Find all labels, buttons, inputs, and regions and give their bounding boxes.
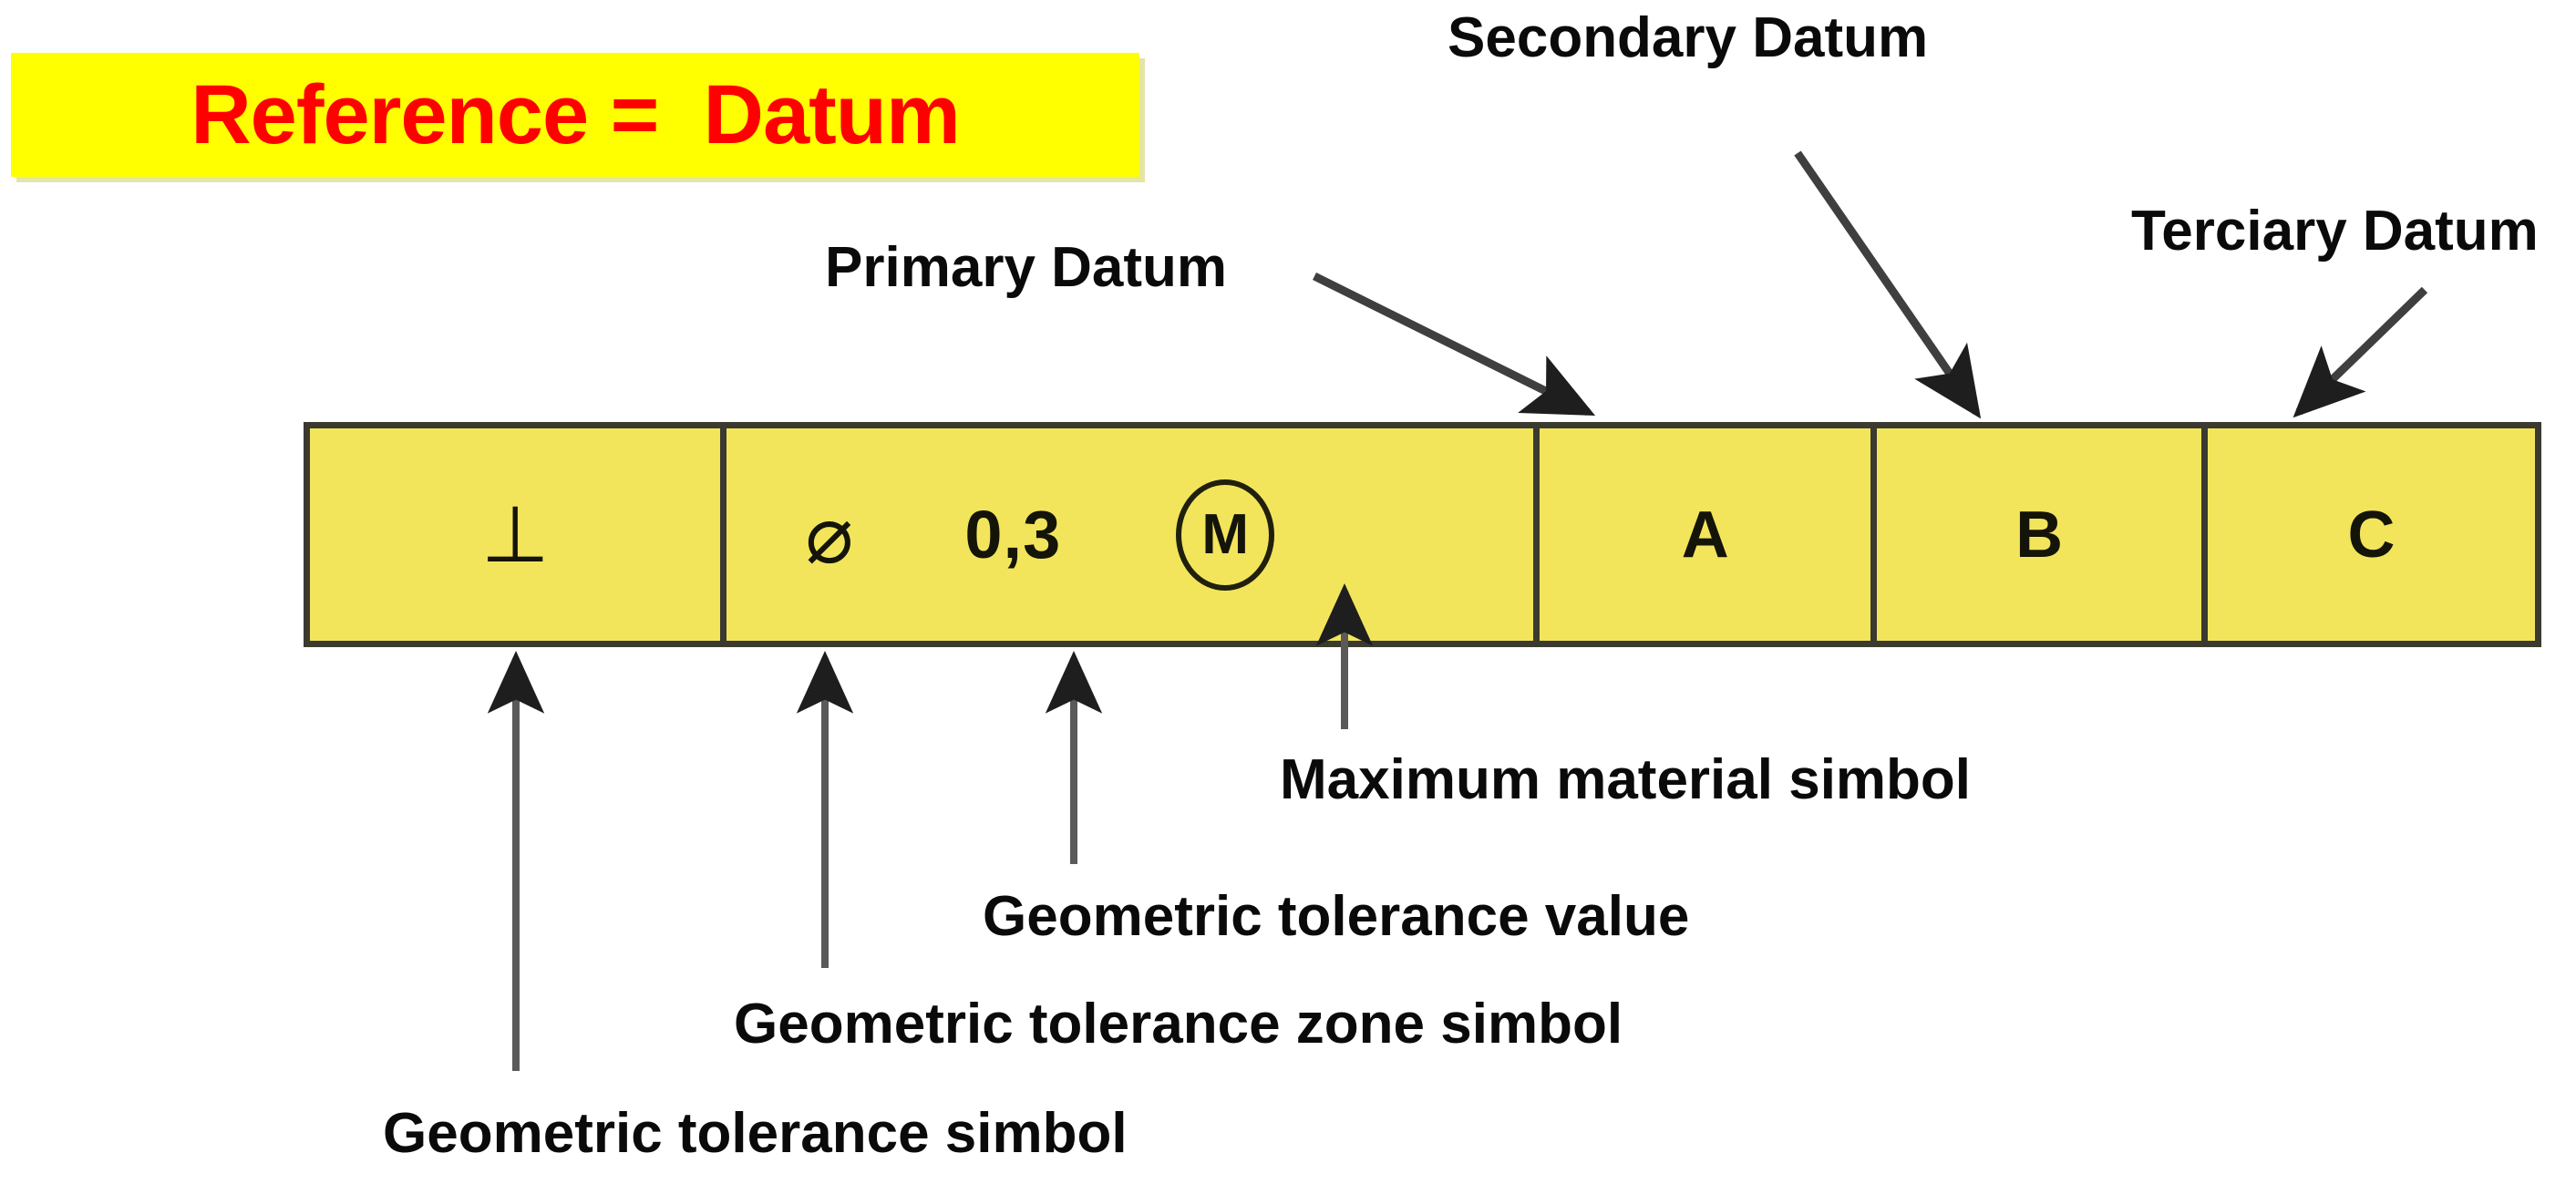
maximum-material-condition-icon: M [1176,479,1274,591]
fcf-cell-datum-b: B [1870,428,2201,641]
callout-secondary-datum: Secondary Datum [1448,5,1928,70]
callout-primary-datum: Primary Datum [825,235,1227,300]
callout-geometric-tolerance-simbol: Geometric tolerance simbol [383,1101,1128,1166]
fcf-cell-datum-a: A [1533,428,1870,641]
tolerance-value-text: 0,3 [964,496,1061,573]
callout-maximum-material-simbol: Maximum material simbol [1280,747,1971,812]
arrow-terciary-datum [2299,290,2425,412]
fcf-cell-geometric-tolerance-symbol: ⊥ [310,428,720,641]
datum-letter-c: C [2348,498,2396,572]
arrow-secondary-datum [1798,153,1976,412]
datum-letter-a: A [1682,498,1729,572]
reference-datum-title: Reference = Datum [11,53,1139,177]
datum-letter-b: B [2015,498,2063,572]
callout-terciary-datum: Terciary Datum [2131,199,2539,263]
diagram-canvas: Reference = Datum ⊥ ⌀ 0,3 M A B C [0,0,2576,1184]
feature-control-frame: ⊥ ⌀ 0,3 M A B C [304,422,2541,647]
fcf-cell-tolerance: ⌀ 0,3 M [720,428,1533,641]
perpendicularity-icon: ⊥ [481,496,550,574]
diameter-icon: ⌀ [805,495,853,575]
fcf-cell-datum-c: C [2201,428,2535,641]
callout-geometric-tolerance-value: Geometric tolerance value [983,884,1689,949]
arrow-primary-datum [1314,276,1588,412]
callout-geometric-tolerance-zone-simbol: Geometric tolerance zone simbol [734,992,1623,1056]
